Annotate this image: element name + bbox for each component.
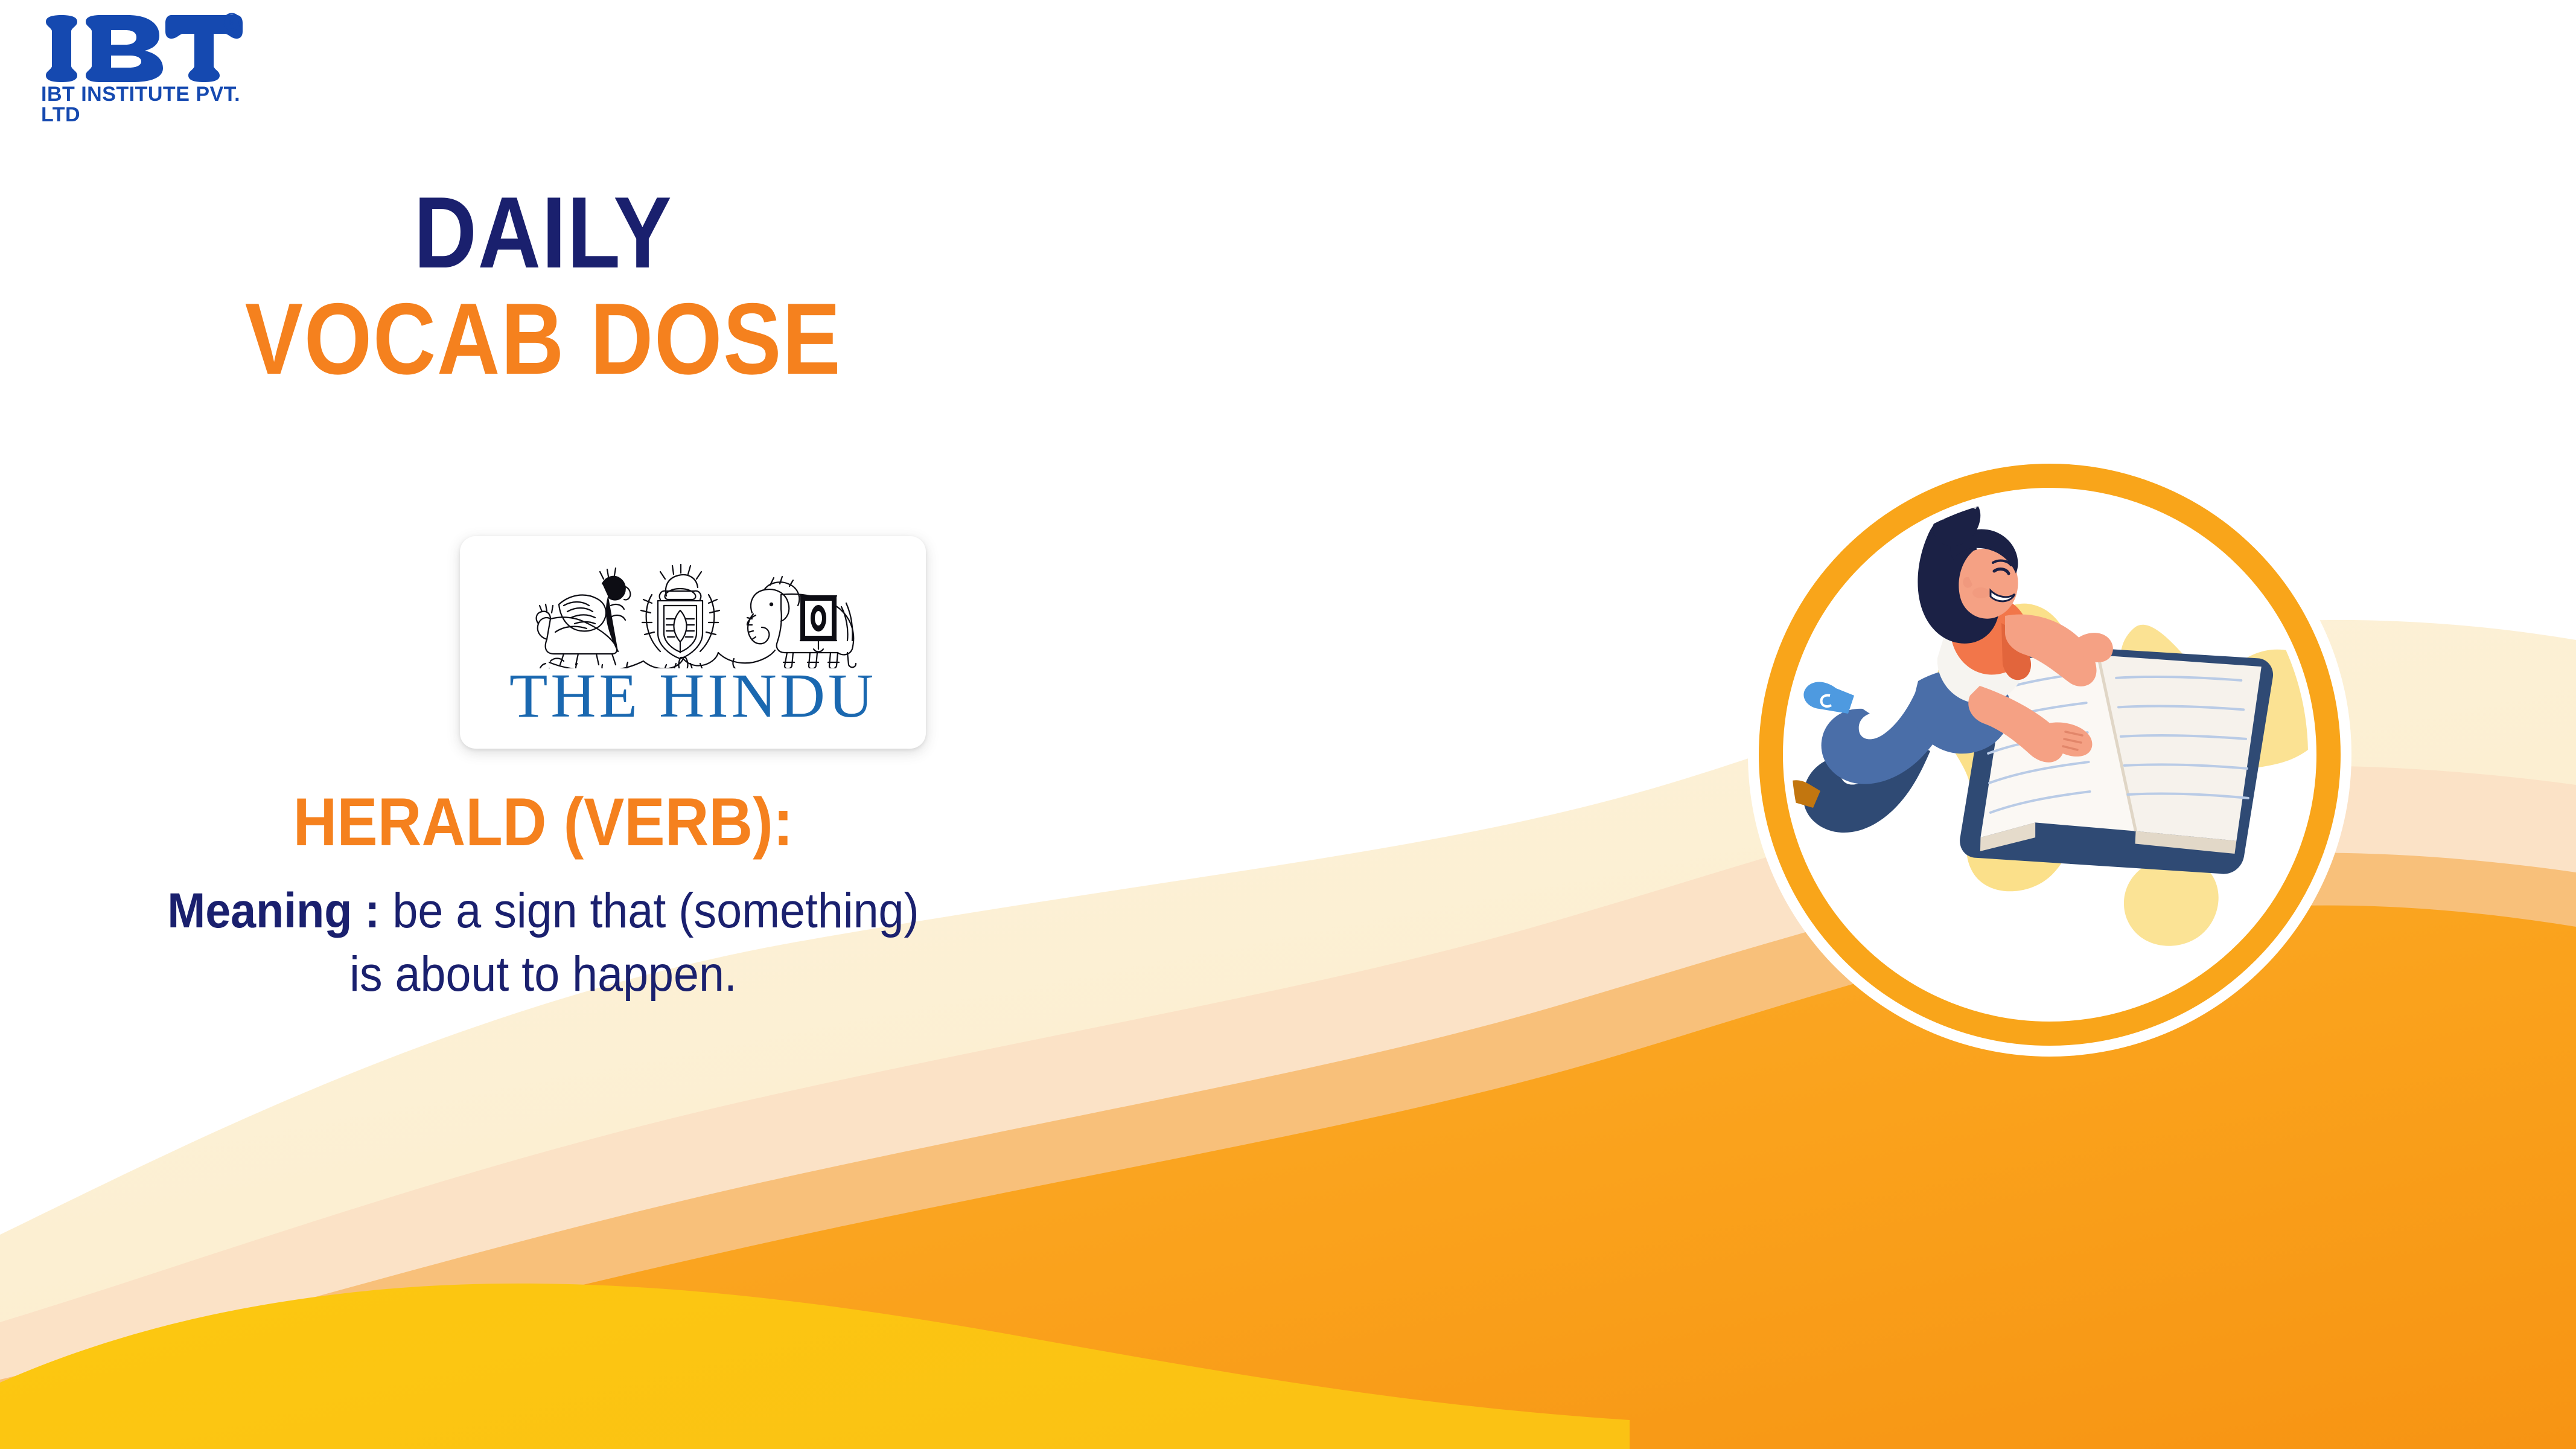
poster-canvas: R IBT INSTITUTE PVT. LTD DAILY VOCAB DOS… [0,0,2576,1449]
the-hindu-wordmark: THE HINDU [509,665,876,728]
flying-reader-illustration [1718,423,2382,1087]
ibt-logo-subtitle: IBT INSTITUTE PVT. LTD [41,84,255,125]
title-line-daily: DAILY [76,181,1010,284]
meaning-text-line2: is about to happen. [349,947,737,1002]
source-logo-card: THE HINDU [460,536,926,749]
vocab-block: HERALD (VERB): Meaning : be a sign that … [0,785,1086,1006]
meaning-label: Meaning : [167,883,392,938]
the-hindu-emblem-icon [512,561,874,668]
ibt-logo: R IBT INSTITUTE PVT. LTD [37,11,255,120]
title-line-vocab-dose: VOCAB DOSE [76,284,1010,394]
page-title: DAILY VOCAB DOSE [0,181,1086,394]
vocab-meaning: Meaning : be a sign that (something) is … [43,880,1043,1006]
meaning-text-line1: be a sign that (something) [392,883,919,938]
illustration-circle [1718,423,2382,1087]
vocab-term: HERALD (VERB): [54,785,1032,859]
cheek-blush [1972,587,1989,598]
svg-text:R: R [229,18,235,28]
ibt-wordmark-icon: R [37,11,243,86]
